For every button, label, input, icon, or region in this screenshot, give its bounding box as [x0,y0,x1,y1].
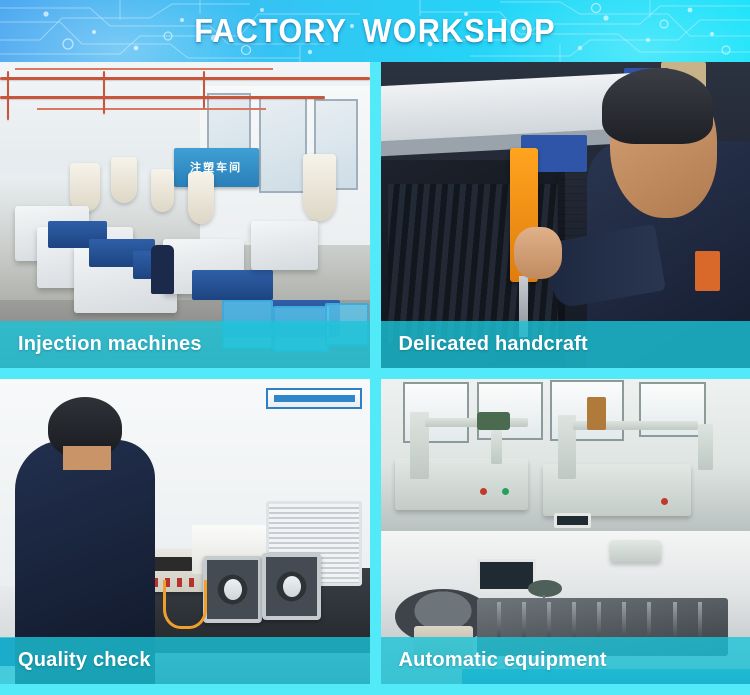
photo-soldering-robots [381,379,750,532]
gallery-cell-injection-machines[interactable]: 注塑车间 [0,62,370,368]
gallery-cell-quality-check[interactable]: Quality check [0,379,370,685]
gallery-cell-automatic-equipment[interactable]: Automatic equipment [381,379,750,685]
gallery-grid: 注塑车间 [0,62,750,695]
caption-text: Delicated handcraft [381,333,588,356]
gallery-cell-delicated-handcraft[interactable]: Delicated handcraft [381,62,750,368]
axial-fan-right [262,553,321,620]
caption-text: Quality check [0,649,151,672]
caption-bar-injection-machines: Injection machines [0,321,370,368]
axial-fan-left [203,556,262,623]
page-header: FACTORY WORKSHOP [0,0,750,62]
caption-text: Automatic equipment [381,649,607,672]
caption-bar-quality-check: Quality check [0,637,370,684]
caption-text: Injection machines [0,333,202,356]
caption-bar-delicated-handcraft: Delicated handcraft [381,321,750,368]
factory-workshop-banner: FACTORY WORKSHOP 注塑车间 [0,0,750,695]
workshop-sign: 注塑车间 [174,148,259,188]
hmi-touchscreen [477,559,536,593]
caption-bar-automatic-equipment: Automatic equipment [381,637,750,684]
page-title: FACTORY WORKSHOP [26,0,724,62]
